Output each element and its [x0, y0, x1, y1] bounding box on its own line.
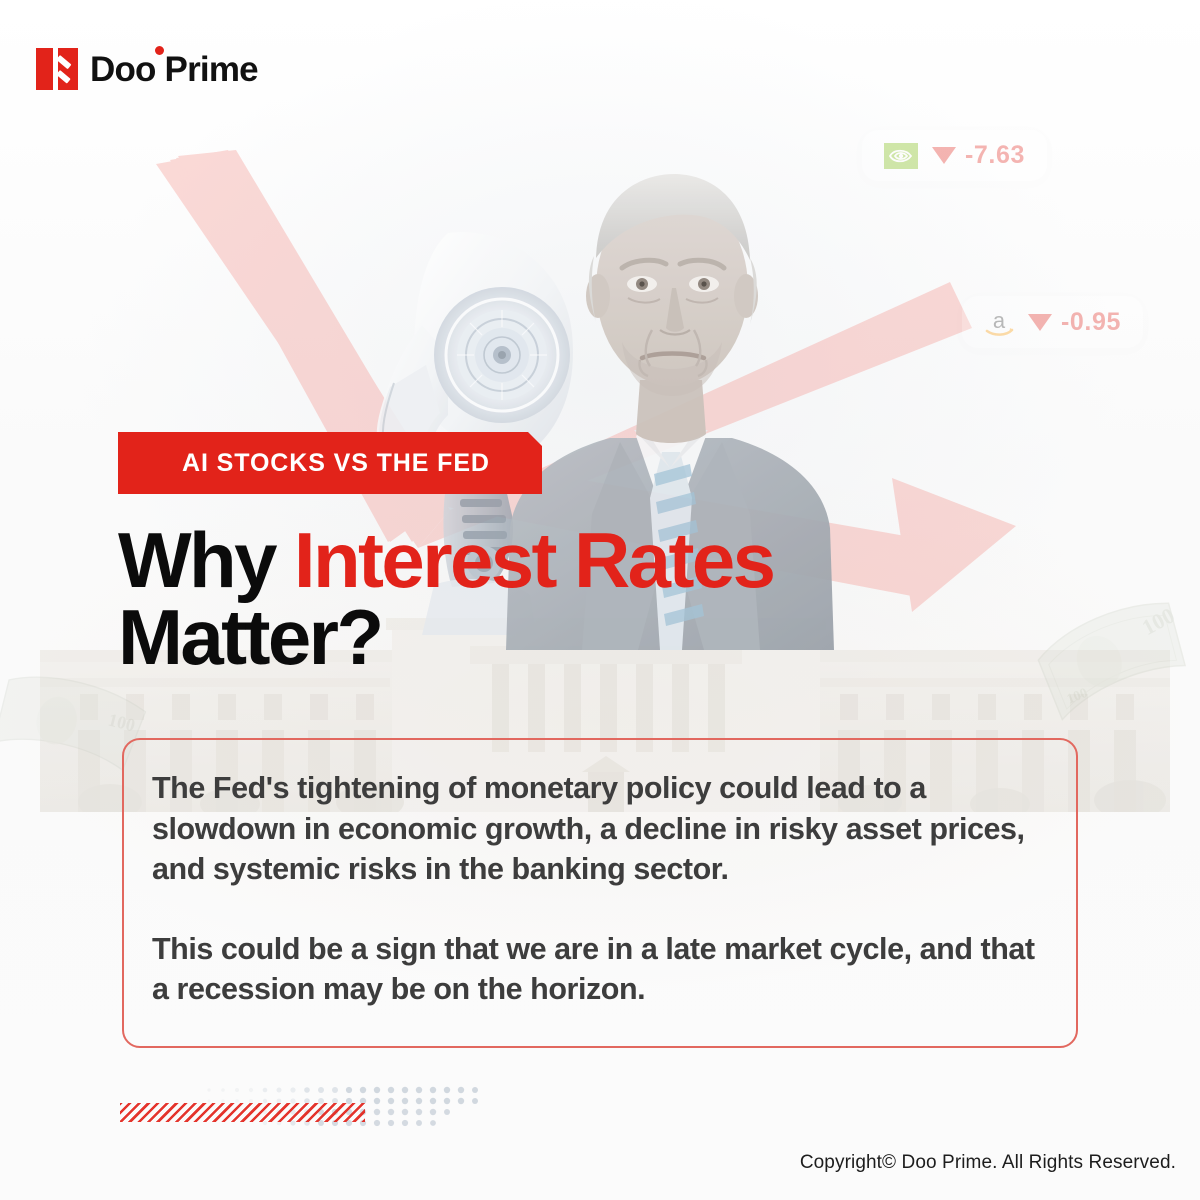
- headline-part-accent: Interest Rates: [294, 516, 773, 604]
- content-card: The Fed's tightening of monetary policy …: [122, 738, 1078, 1048]
- ticker-change-nvda: -7.63: [932, 141, 1025, 170]
- triangle-down-icon: [932, 147, 956, 164]
- copyright-notice: Copyright© Doo Prime. All Rights Reserve…: [800, 1152, 1176, 1174]
- amazon-a-smile-logo: a: [984, 307, 1014, 337]
- brand-logo[interactable]: Doo Prime: [36, 48, 258, 90]
- logo-accent-dot: [155, 46, 164, 55]
- category-badge-label: AI STOCKS VS THE FED: [118, 449, 490, 478]
- poster-canvas: 100 100 100 Doo Prime: [0, 0, 1200, 1200]
- doo-prime-square-mark: [36, 48, 78, 90]
- ticker-change-value: -0.95: [1061, 308, 1121, 337]
- ticker-change-amzn: -0.95: [1028, 308, 1121, 337]
- ticker-pill-nvda[interactable]: -7.63: [862, 130, 1047, 181]
- red-diagonal-stripe-bar: [120, 1103, 365, 1122]
- brand-name: Doo Prime: [90, 52, 258, 87]
- page-title: Why Interest Rates Matter?: [118, 522, 773, 676]
- svg-text:a: a: [993, 308, 1006, 333]
- category-badge: AI STOCKS VS THE FED: [118, 432, 542, 494]
- nvidia-eye-logo: [884, 143, 918, 169]
- content-paragraph-1: The Fed's tightening of monetary policy …: [152, 768, 1044, 890]
- content-paragraph-2: This could be a sign that we are in a la…: [152, 929, 1044, 1010]
- hundred-dollar-bill: 100 100: [1025, 588, 1200, 738]
- triangle-down-icon: [1028, 314, 1052, 331]
- headline-line-2: Matter?: [118, 599, 773, 676]
- headline-line-1: Why Interest Rates: [118, 522, 773, 599]
- ticker-change-value: -7.63: [965, 141, 1025, 170]
- ticker-pill-amzn[interactable]: a -0.95: [962, 296, 1143, 348]
- headline-part-plain: Why: [118, 516, 294, 604]
